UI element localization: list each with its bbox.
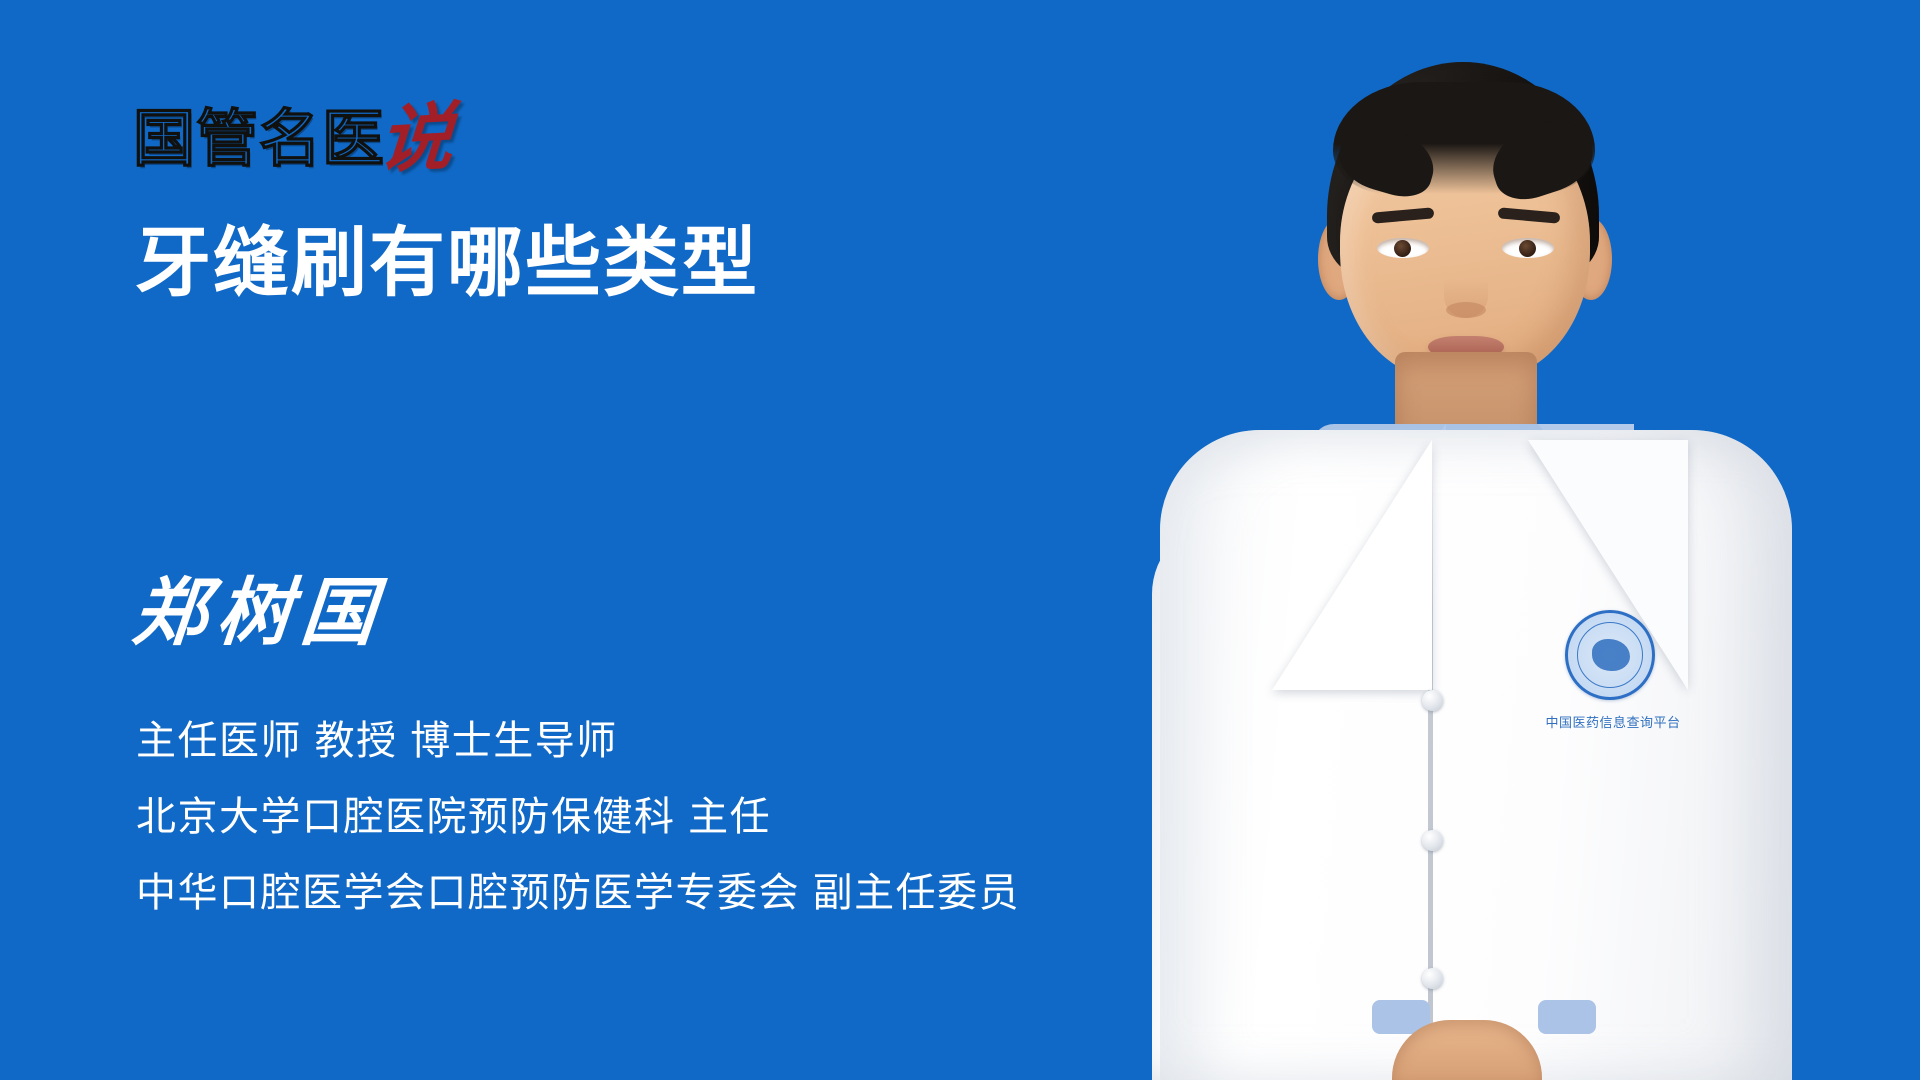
doctor-portrait: 中国医药信息查询平台 (920, 0, 1920, 1080)
eye-right (1502, 238, 1554, 258)
platform-emblem-icon (1565, 610, 1655, 700)
lab-coat (1160, 430, 1792, 1080)
brand-logo-accent-character: 说 (377, 106, 456, 172)
page-title: 牙缝刷有哪些类型 (135, 222, 759, 306)
doctor-name: 郑树国 (129, 572, 388, 654)
hair-fringe (1333, 82, 1595, 194)
brand-logo: 国管名医 说 (133, 98, 453, 170)
title-card: 国管名医 说 牙缝刷有哪些类型 郑树国 主任医师 教授 博士生导师 北京大学口腔… (0, 0, 1920, 1080)
nose (1444, 262, 1488, 318)
lab-coat-lapel-left (1272, 440, 1432, 690)
lab-coat-button (1422, 690, 1443, 711)
brand-logo-main-text: 国管名医 (133, 108, 385, 170)
platform-emblem-label: 中国医药信息查询平台 (1528, 712, 1698, 731)
eye-left (1377, 238, 1429, 258)
lab-coat-button (1422, 830, 1443, 851)
doctor-credentials: 主任医师 教授 博士生导师 北京大学口腔医院预防保健科 主任 中华口腔医学会口腔… (136, 718, 1020, 916)
lab-coat-button (1422, 968, 1443, 989)
credential-line-2: 北京大学口腔医院预防保健科 主任 (136, 794, 1020, 840)
credential-line-1: 主任医师 教授 博士生导师 (136, 718, 1020, 764)
shirt-cuff-right (1538, 1000, 1596, 1034)
credential-line-3: 中华口腔医学会口腔预防医学专委会 副主任委员 (136, 870, 1020, 916)
